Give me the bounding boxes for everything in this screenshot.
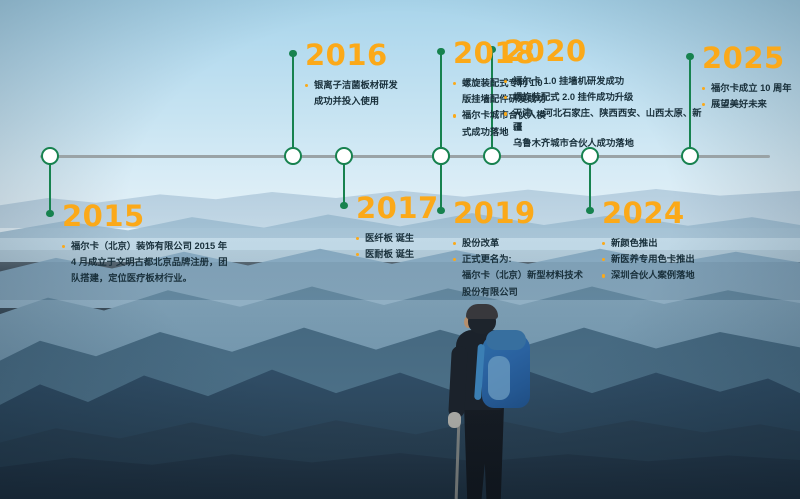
entry-item-text: 乌鲁木齐城市合伙人成功落地 (513, 138, 634, 148)
year-label-2019: 2019 (453, 199, 583, 228)
entry-item-text: 股份改革 (462, 238, 499, 248)
entry-item: 深圳合伙人案例落地 (602, 269, 722, 282)
timeline-entry-2019: 2019股份改革正式更名为:福尔卡（北京）新型材料技术股份有限公司 (453, 199, 583, 302)
entry-item: 医耐板 诞生 (356, 248, 446, 261)
bullet-dot-icon (602, 258, 605, 261)
entry-items-2020: 福尔卡 1.0 挂墙机研发成功螺旋装配式 2.0 挂件成功升级天津、 河北石家庄… (504, 75, 704, 150)
timeline-node-marker-2015[interactable] (41, 147, 59, 165)
entry-item-text: 福尔卡（北京）新型材料技术 (462, 270, 583, 280)
entry-item-text: 股份有限公司 (462, 287, 518, 297)
bullet-dot-icon (602, 242, 605, 245)
timeline-stem-tip-2016 (289, 50, 296, 57)
entry-item: 福尔卡（北京）新型材料技术 (453, 269, 583, 282)
entry-item: 4 月成立于文明古都北京品牌注册，团 (62, 256, 242, 269)
timeline-node-marker-2016[interactable] (284, 147, 302, 165)
timeline-entry-2020: 2020福尔卡 1.0 挂墙机研发成功螺旋装配式 2.0 挂件成功升级天津、 河… (504, 37, 704, 153)
timeline-entry-2025: 2025福尔卡成立 10 周年展望美好未来 (702, 44, 800, 114)
entry-item-text: 福尔卡（北京）装饰有限公司 2015 年 (71, 241, 227, 251)
entry-item-text: 正式更名为: (462, 254, 512, 264)
entry-items-2025: 福尔卡成立 10 周年展望美好未来 (702, 82, 800, 111)
bullet-dot-icon (305, 84, 308, 87)
bullet-dot-icon (356, 237, 359, 240)
entry-item: 新医养专用色卡推出 (602, 253, 722, 266)
timeline-stem-2016 (292, 53, 294, 156)
entry-item-text: 医耐板 诞生 (365, 249, 414, 259)
entry-item-text: 展望美好未来 (711, 99, 767, 109)
bullet-dot-icon (453, 82, 456, 85)
entry-item: 银离子洁菌板材研发 (305, 79, 400, 92)
year-label-2024: 2024 (602, 199, 722, 228)
entry-item: 股份改革 (453, 237, 583, 250)
entry-item-text: 螺旋装配式 2.0 挂件成功升级 (513, 92, 633, 102)
bullet-dot-icon (504, 112, 507, 115)
timeline-entry-2017: 2017医纤板 诞生医耐板 诞生 (356, 194, 446, 264)
timeline-node-marker-2019[interactable] (432, 147, 450, 165)
timeline-infographic: 2015福尔卡（北京）装饰有限公司 2015 年4 月成立于文明古都北京品牌注册… (0, 0, 800, 499)
entry-item: 福尔卡成立 10 周年 (702, 82, 800, 95)
year-label-2015: 2015 (62, 202, 242, 231)
year-label-2017: 2017 (356, 194, 446, 223)
timeline-stem-tip-2017 (340, 202, 347, 209)
timeline-node-marker-2020[interactable] (483, 147, 501, 165)
entry-item: 福尔卡（北京）装饰有限公司 2015 年 (62, 240, 242, 253)
timeline-entry-2024: 2024新颜色推出新医养专用色卡推出深圳合伙人案例落地 (602, 199, 722, 286)
entry-item-text: 福尔卡 1.0 挂墙机研发成功 (513, 76, 624, 86)
bullet-dot-icon (356, 253, 359, 256)
entry-item-text: 天津、 河北石家庄、陕西西安、山西太原、新疆 (513, 108, 702, 131)
entry-item-text: 新颜色推出 (611, 238, 658, 248)
entry-item: 福尔卡 1.0 挂墙机研发成功 (504, 75, 704, 88)
entry-item-text: 4 月成立于文明古都北京品牌注册，团 (71, 257, 228, 267)
entry-item: 队搭建，定位医疗板材行业。 (62, 272, 242, 285)
timeline-axis (40, 155, 770, 158)
timeline-entry-2016: 2016银离子洁菌板材研发成功并投入使用 (305, 41, 400, 111)
bullet-dot-icon (62, 245, 65, 248)
timeline-node-marker-2017[interactable] (335, 147, 353, 165)
entry-item-text: 队搭建，定位医疗板材行业。 (71, 273, 192, 283)
entry-item: 正式更名为: (453, 253, 583, 266)
timeline-stem-tip-2015 (46, 210, 53, 217)
entry-item-text: 银离子洁菌板材研发 (314, 80, 398, 90)
entry-item-text: 成功并投入使用 (314, 96, 379, 106)
timeline-entry-2015: 2015福尔卡（北京）装饰有限公司 2015 年4 月成立于文明古都北京品牌注册… (62, 202, 242, 289)
entry-item: 展望美好未来 (702, 98, 800, 111)
bullet-dot-icon (453, 258, 456, 261)
entry-item: 股份有限公司 (453, 286, 583, 299)
timeline-stem-tip-2024 (586, 207, 593, 214)
entry-item: 天津、 河北石家庄、陕西西安、山西太原、新疆 (504, 107, 704, 133)
year-label-2020: 2020 (504, 37, 704, 66)
bullet-dot-icon (504, 80, 507, 83)
timeline-stem-2018 (440, 51, 442, 156)
entry-items-2015: 福尔卡（北京）装饰有限公司 2015 年4 月成立于文明古都北京品牌注册，团队搭… (62, 240, 242, 286)
year-label-2016: 2016 (305, 41, 400, 70)
entry-item-text: 福尔卡成立 10 周年 (711, 83, 792, 93)
entry-items-2024: 新颜色推出新医养专用色卡推出深圳合伙人案例落地 (602, 237, 722, 283)
bullet-dot-icon (702, 87, 705, 90)
year-label-2025: 2025 (702, 44, 800, 73)
entry-item: 螺旋装配式 2.0 挂件成功升级 (504, 91, 704, 104)
bullet-dot-icon (602, 274, 605, 277)
entry-item-text: 式成功落地 (462, 127, 509, 137)
entry-items-2019: 股份改革正式更名为:福尔卡（北京）新型材料技术股份有限公司 (453, 237, 583, 299)
entry-item: 成功并投入使用 (305, 95, 400, 108)
entry-item: 乌鲁木齐城市合伙人成功落地 (504, 137, 704, 150)
entry-item: 医纤板 诞生 (356, 232, 446, 245)
entry-item: 新颜色推出 (602, 237, 722, 250)
entry-item-text: 深圳合伙人案例落地 (611, 270, 695, 280)
bullet-dot-icon (453, 114, 456, 117)
entry-items-2016: 银离子洁菌板材研发成功并投入使用 (305, 79, 400, 108)
bullet-dot-icon (702, 103, 705, 106)
bullet-dot-icon (504, 96, 507, 99)
timeline-stem-tip-2018 (437, 48, 444, 55)
entry-items-2017: 医纤板 诞生医耐板 诞生 (356, 232, 446, 261)
bullet-dot-icon (453, 242, 456, 245)
entry-item-text: 医纤板 诞生 (365, 233, 414, 243)
entry-item-text: 新医养专用色卡推出 (611, 254, 695, 264)
